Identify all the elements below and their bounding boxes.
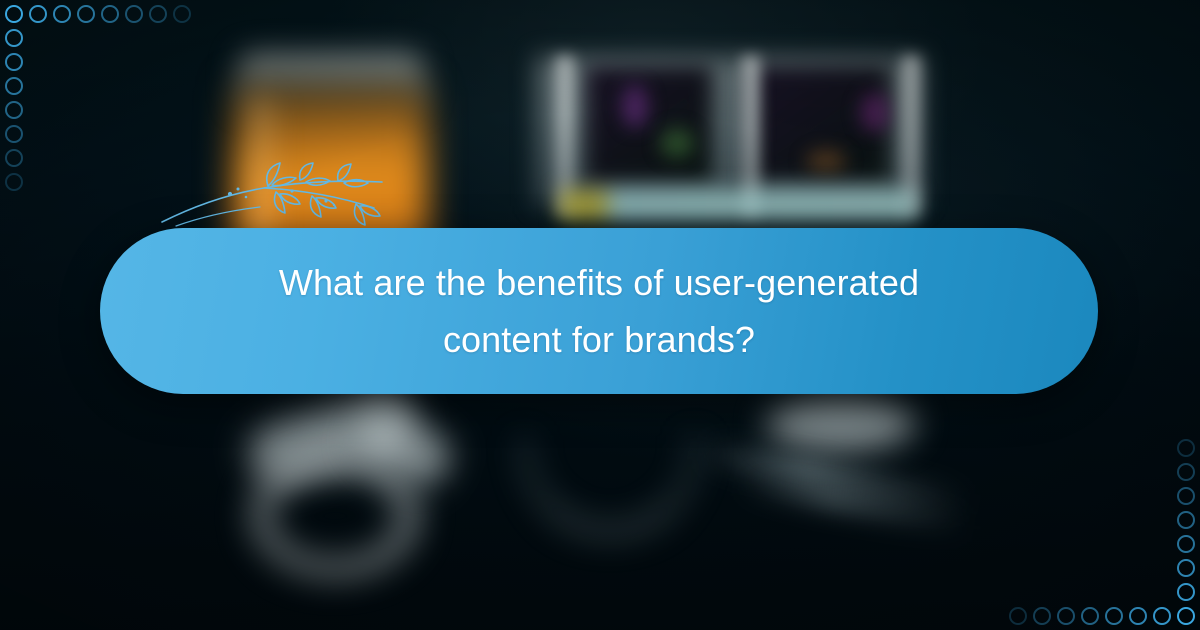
decorative-circle-icon bbox=[1153, 607, 1171, 625]
decorative-circle-icon bbox=[1177, 463, 1195, 481]
decorative-circle-icon bbox=[1177, 559, 1195, 577]
decorative-circle-icon bbox=[1177, 511, 1195, 529]
decorative-circle-icon bbox=[5, 125, 23, 143]
decorative-circle-icon bbox=[5, 101, 23, 119]
decorative-circle-icon bbox=[101, 5, 119, 23]
decorative-circle-icon bbox=[1009, 607, 1027, 625]
decorative-circle-icon bbox=[29, 5, 47, 23]
decorative-circle-icon bbox=[5, 53, 23, 71]
decorative-circle-icon bbox=[1081, 607, 1099, 625]
decorative-circle-icon bbox=[1105, 607, 1123, 625]
social-card-canvas: What are the benefits of user-generated … bbox=[0, 0, 1200, 630]
decorative-circle-icon bbox=[77, 5, 95, 23]
decorative-circle-icon bbox=[149, 5, 167, 23]
bottom-right-dot-decoration bbox=[980, 410, 1200, 630]
headline-pill: What are the benefits of user-generated … bbox=[100, 228, 1098, 394]
decorative-circle-icon bbox=[5, 5, 23, 23]
decorative-circle-icon bbox=[125, 5, 143, 23]
decorative-circle-icon bbox=[53, 5, 71, 23]
decorative-circle-icon bbox=[5, 173, 23, 191]
decorative-circle-icon bbox=[1033, 607, 1051, 625]
decorative-circle-icon bbox=[1177, 607, 1195, 625]
decorative-circle-icon bbox=[1129, 607, 1147, 625]
decorative-circle-icon bbox=[1177, 535, 1195, 553]
decorative-circle-icon bbox=[1177, 583, 1195, 601]
decorative-circle-icon bbox=[173, 5, 191, 23]
decorative-circle-icon bbox=[1177, 487, 1195, 505]
decorative-circle-icon bbox=[1057, 607, 1075, 625]
decorative-circle-icon bbox=[5, 149, 23, 167]
decorative-circle-icon bbox=[5, 29, 23, 47]
decorative-circle-icon bbox=[1177, 439, 1195, 457]
page-title: What are the benefits of user-generated … bbox=[219, 254, 979, 368]
decorative-circle-icon bbox=[5, 77, 23, 95]
